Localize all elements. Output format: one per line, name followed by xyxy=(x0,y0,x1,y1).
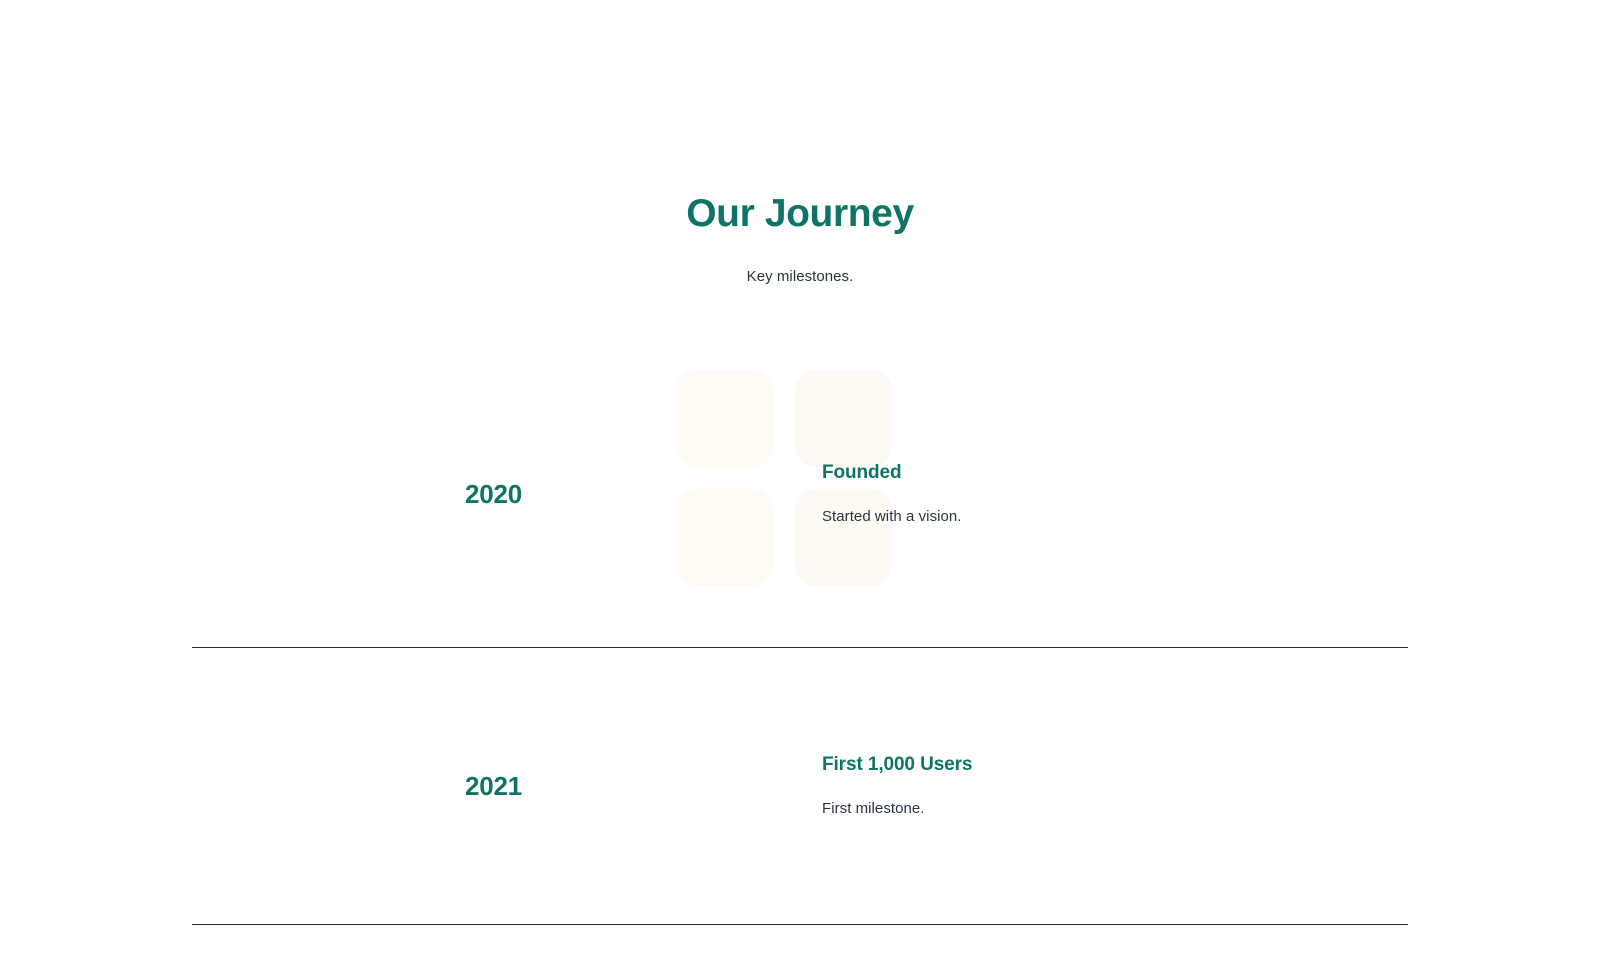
page-root: Our Journey Key milestones. 2020 Founded… xyxy=(0,0,1600,978)
decorative-tile xyxy=(676,370,773,467)
timeline-year: 2020 xyxy=(465,479,522,509)
timeline-year: 2021 xyxy=(465,771,522,801)
milestone-title: Founded xyxy=(822,460,1408,485)
timeline-row[interactable]: 2020 Founded Started with a vision. xyxy=(192,340,1408,648)
timeline-content-column: First 1,000 Users First milestone. xyxy=(822,752,1408,820)
milestone-description: Started with a vision. xyxy=(822,485,1408,528)
page-subtitle: Key milestones. xyxy=(0,238,1600,288)
timeline-year-column: 2020 xyxy=(192,478,522,510)
timeline-row[interactable]: 2021 First 1,000 Users First milestone. xyxy=(192,648,1408,925)
section-header: Our Journey Key milestones. xyxy=(0,190,1600,288)
timeline-content-column: Founded Started with a vision. xyxy=(822,460,1408,528)
timeline-year-column: 2021 xyxy=(192,770,522,802)
timeline-list: 2020 Founded Started with a vision. 2021… xyxy=(192,340,1408,925)
milestone-description: First milestone. xyxy=(822,777,1408,820)
milestone-title: First 1,000 Users xyxy=(822,752,1408,777)
decorative-tile xyxy=(795,370,892,467)
page-title: Our Journey xyxy=(0,190,1600,238)
decorative-tile xyxy=(676,489,773,586)
